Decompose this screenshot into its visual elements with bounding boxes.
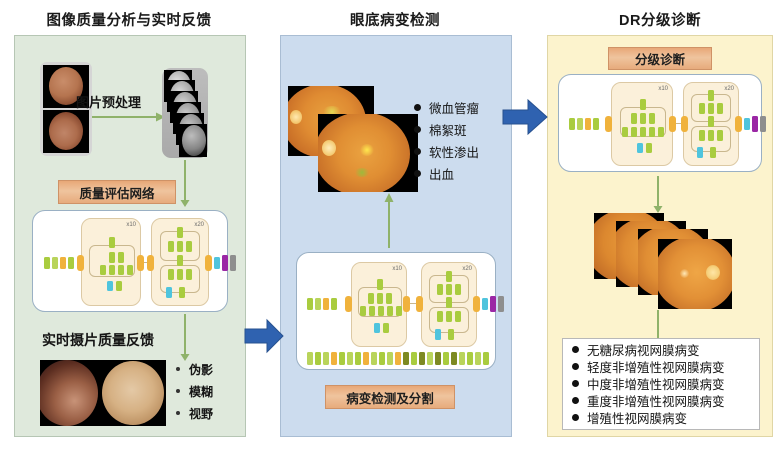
list-item: 模糊 xyxy=(176,380,213,402)
bullet-dot xyxy=(572,346,579,353)
grayscale-image-stack xyxy=(164,70,208,158)
cnn-multiplier-x20-right: x20 xyxy=(724,86,734,92)
realtime-feedback-label: 实时摄片质量反馈 xyxy=(42,330,154,350)
dr-grade-label: 增殖性视网膜病变 xyxy=(587,408,687,427)
segmentation-output-strip xyxy=(307,352,491,365)
arrow-gradingnet-to-images xyxy=(652,176,664,214)
lesion-type-list: 微血管瘤 棉絮斑 软性渗出 出血 xyxy=(414,96,479,184)
lesion-item-label: 软性渗出 xyxy=(429,142,479,161)
cnn-stage-x20-right: x20 xyxy=(683,82,739,166)
bullet-dot xyxy=(572,397,579,404)
grading-network-chip: 分级诊断 xyxy=(608,47,712,70)
bullet-dot xyxy=(414,104,421,111)
list-item: 轻度非增殖性视网膜病变 xyxy=(572,358,725,375)
cnn-multiplier-x10-right: x10 xyxy=(658,86,668,92)
arrow-preprocess xyxy=(92,110,166,122)
preprocess-label: 图片预处理 xyxy=(76,92,141,111)
lesion-item-label: 微血管瘤 xyxy=(429,98,479,117)
list-item: 伪影 xyxy=(176,358,213,380)
bullet-dot xyxy=(176,367,180,371)
lesion-item-label: 出血 xyxy=(429,164,454,183)
cnn-stage-x20-mid: x20 xyxy=(421,262,477,347)
arrow-stack-to-qualitynet xyxy=(179,160,191,208)
feedback-issue-list: 伪影 模糊 视野 xyxy=(176,358,213,424)
bullet-dot xyxy=(176,389,180,393)
cnn-multiplier-x10-mid: x10 xyxy=(392,266,402,272)
bullet-dot xyxy=(572,363,579,370)
pipeline-figure: 图像质量分析与实时反馈 眼底病变检测 DR分级诊断 图片预处理 xyxy=(0,0,775,449)
feedback-fundus-artifact xyxy=(40,360,98,426)
list-item: 出血 xyxy=(414,162,479,184)
bullet-dot xyxy=(572,414,579,421)
cnn-stage-x10-left: x10 xyxy=(81,218,141,306)
bullet-dot xyxy=(414,148,421,155)
arrow-qualitynet-to-feedback xyxy=(179,314,191,362)
list-item: 无糖尿病视网膜病变 xyxy=(572,341,725,358)
feedback-item-label: 伪影 xyxy=(189,361,213,378)
feedback-fundus-blur xyxy=(102,361,164,425)
bullet-dot xyxy=(176,411,180,415)
fundus-thumb-input-2 xyxy=(43,110,89,153)
grading-fundus-4 xyxy=(658,239,732,309)
cnn-multiplier-x10-left: x10 xyxy=(126,222,136,228)
quality-network-chip: 质量评估网络 xyxy=(58,180,176,204)
grading-cnn-diagram: x10 x20 xyxy=(558,74,762,172)
feedback-image-pair xyxy=(40,360,166,426)
quality-cnn-diagram: x10 x20 xyxy=(32,210,228,312)
cnn-multiplier-x20-mid: x20 xyxy=(462,266,472,272)
bullet-dot xyxy=(572,380,579,387)
list-item: 视野 xyxy=(176,402,213,424)
bullet-dot xyxy=(414,126,421,133)
list-item: 微血管瘤 xyxy=(414,96,479,118)
arrow-lesionnet-to-images xyxy=(383,192,395,248)
lesion-cnn-diagram: x10 x20 xyxy=(296,252,496,370)
lesion-network-chip: 病变检测及分割 xyxy=(325,385,455,409)
column-title-grading: DR分级诊断 xyxy=(545,9,775,30)
dr-grade-list: 无糖尿病视网膜病变 轻度非增殖性视网膜病变 中度非增殖性视网膜病变 重度非增殖性… xyxy=(572,341,725,426)
column-title-lesion: 眼底病变检测 xyxy=(278,9,512,30)
cnn-stage-x10-right: x10 xyxy=(611,82,673,166)
arrow-quality-to-lesion xyxy=(243,316,285,356)
cnn-multiplier-x20-left: x20 xyxy=(194,222,204,228)
list-item: 棉絮斑 xyxy=(414,118,479,140)
arrow-lesion-to-grading xyxy=(500,96,550,138)
feedback-item-label: 视野 xyxy=(189,405,213,422)
list-item: 中度非增殖性视网膜病变 xyxy=(572,375,725,392)
cnn-stage-x20-left: x20 xyxy=(151,218,209,306)
list-item: 重度非增殖性视网膜病变 xyxy=(572,392,725,409)
grading-fundus-stack xyxy=(594,213,724,313)
column-title-quality: 图像质量分析与实时反馈 xyxy=(12,9,246,30)
feedback-item-label: 模糊 xyxy=(189,383,213,400)
list-item: 增殖性视网膜病变 xyxy=(572,409,725,426)
grayscale-frame-6 xyxy=(179,124,207,157)
list-item: 软性渗出 xyxy=(414,140,479,162)
lesion-fundus-front xyxy=(318,114,418,192)
cnn-stage-x10-mid: x10 xyxy=(351,262,407,347)
lesion-item-label: 棉絮斑 xyxy=(429,120,467,139)
bullet-dot xyxy=(414,170,421,177)
